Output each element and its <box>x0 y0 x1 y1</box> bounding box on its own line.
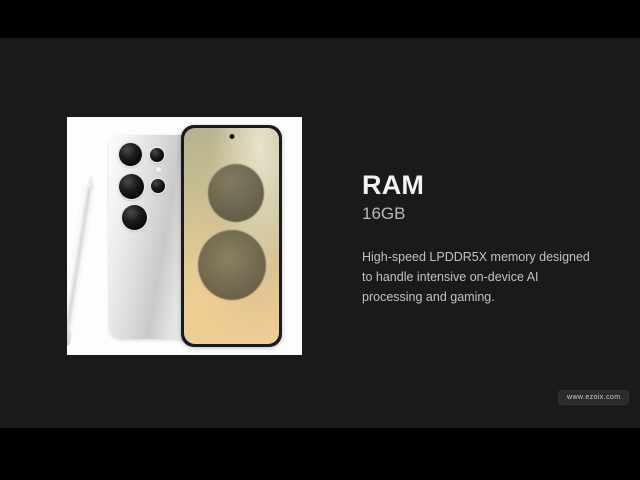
slide-stage: RAM 16GB High-speed LPDDR5X memory desig… <box>0 0 640 480</box>
camera-flash-icon <box>156 167 161 172</box>
camera-lens-icon <box>150 148 164 162</box>
camera-lens-icon <box>119 143 142 166</box>
wallpaper-s-lower-shape <box>198 230 266 300</box>
product-photo-card <box>67 117 302 355</box>
camera-array <box>117 141 191 233</box>
phone-front-view <box>181 125 282 347</box>
s-pen-stylus <box>67 184 95 346</box>
spec-description: High-speed LPDDR5X memory designed to ha… <box>362 247 598 308</box>
spec-title: RAM <box>362 170 602 200</box>
product-photo <box>67 117 302 355</box>
camera-lens-icon <box>122 205 147 230</box>
watermark-badge: www.ezoix.com <box>559 391 628 404</box>
camera-lens-icon <box>119 174 144 199</box>
phone-screen <box>184 128 279 344</box>
letterbox-bar-top <box>0 0 640 38</box>
wallpaper-s-upper-shape <box>208 164 264 222</box>
camera-lens-icon <box>151 179 165 193</box>
spec-value: 16GB <box>362 204 602 224</box>
spec-text-column: RAM 16GB High-speed LPDDR5X memory desig… <box>362 170 602 307</box>
letterbox-bar-bottom <box>0 428 640 480</box>
slide-content: RAM 16GB High-speed LPDDR5X memory desig… <box>0 38 640 428</box>
front-camera-icon <box>229 134 234 139</box>
